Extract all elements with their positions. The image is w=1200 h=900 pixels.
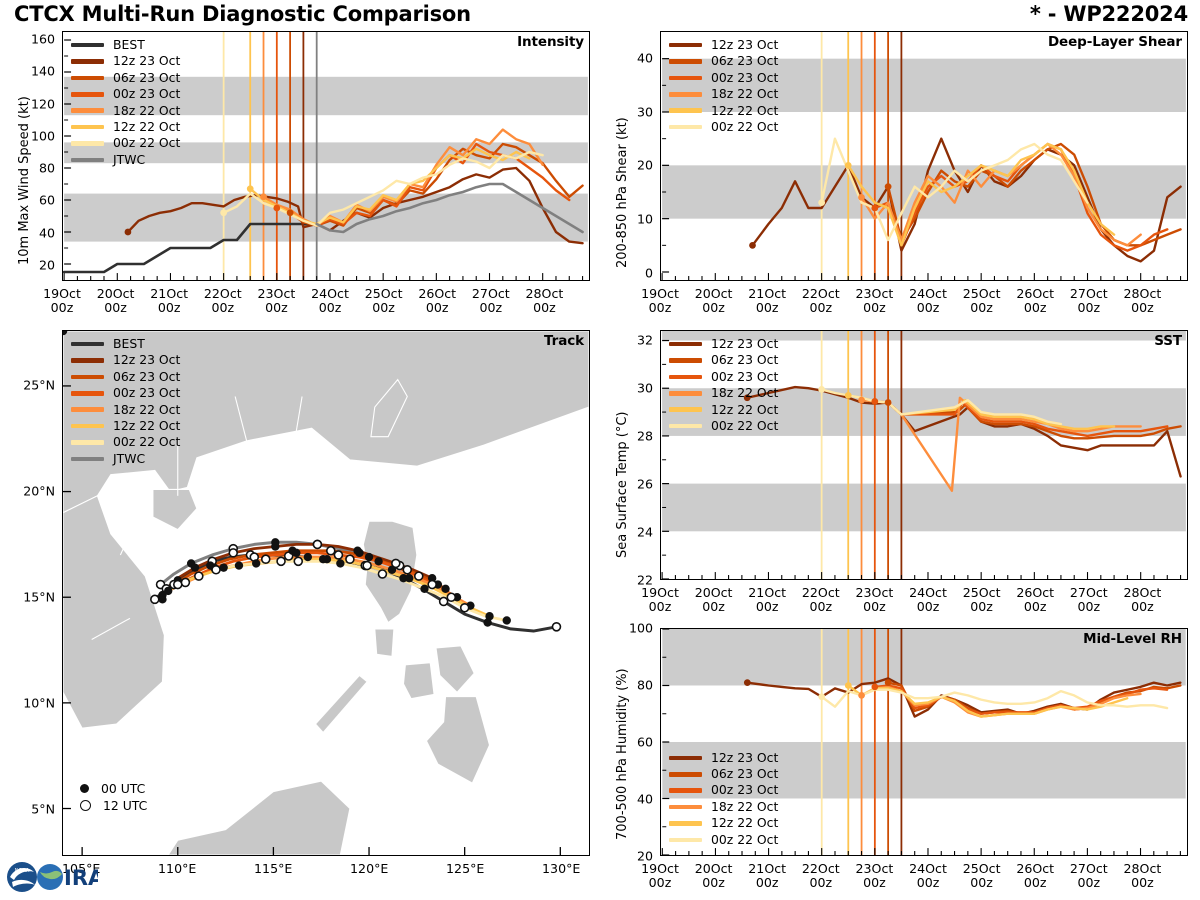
legend-label: 12z 22 Oct — [711, 105, 778, 117]
track-marker-12utc — [346, 555, 354, 563]
legend-label: 00z 23 Oct — [711, 784, 778, 796]
map-lat-label: 25°N — [23, 378, 55, 393]
series-init-marker-run-00z23 — [871, 205, 878, 212]
y-tick-label: 40 — [637, 50, 653, 65]
map-lon-label: 125°E — [446, 862, 484, 876]
x-tick-hour: 00z — [1131, 875, 1154, 890]
x-tick-hour: 00z — [1024, 599, 1047, 614]
legend-item-run-00z23[interactable]: 00z 23 Oct — [669, 782, 778, 798]
legend-label: 00z 22 Oct — [711, 420, 778, 432]
x-tick-hour: 00z — [533, 300, 556, 315]
legend-label: 12z 22 Oct — [113, 420, 180, 432]
panel-track[interactable]: Track BEST12z 23 Oct06z 23 Oct00z 23 Oct… — [62, 330, 590, 856]
map-lat-label: 5°N — [31, 802, 55, 817]
legend-item-run-00z23[interactable]: 00z 23 Oct — [669, 369, 778, 385]
track-marker-12utc — [440, 597, 448, 605]
y-tick-label: 60 — [39, 193, 55, 208]
series-init-marker-run-06z23 — [287, 209, 294, 216]
track-marker-12utc — [262, 555, 270, 563]
legend-item-run-18z22[interactable]: 18z 22 Oct — [669, 799, 778, 815]
track-marker-00utc — [365, 553, 373, 561]
legend-swatch-run-06z23 — [71, 76, 104, 81]
x-tick-label: 26Oct00z — [1016, 287, 1054, 314]
x-tick-label: 20Oct00z — [695, 862, 733, 889]
x-tick-hour: 00z — [756, 875, 779, 890]
legend-label: 12z 23 Oct — [711, 752, 778, 764]
x-tick-label: 27Oct00z — [472, 287, 510, 314]
series-init-marker-run-18z22 — [858, 194, 865, 201]
svg-text:NOAA: NOAA — [15, 868, 30, 874]
y-tick-label: 10 — [637, 212, 653, 227]
x-tick-label: 23Oct00z — [856, 586, 894, 613]
legend-item-run-12z23[interactable]: 12z 23 Oct — [669, 750, 778, 766]
legend-item-jtwc[interactable]: JTWC — [71, 451, 180, 467]
series-init-marker-run-00z22 — [818, 199, 825, 206]
legend-label: 18z 22 Oct — [711, 88, 778, 100]
legend-label: BEST — [113, 338, 145, 350]
series-init-marker-run-00z22 — [818, 386, 825, 393]
x-tick-label: 21Oct00z — [150, 287, 188, 314]
x-tick-label: 21Oct00z — [748, 287, 786, 314]
y-tick-label: 20 — [39, 257, 55, 272]
track-marker-00utc — [292, 549, 300, 557]
marker-legend-label: 00 UTC — [101, 781, 145, 796]
track-marker-12utc — [334, 551, 342, 559]
series-init-marker-run-12z22 — [247, 185, 254, 192]
series-init-marker-run-12z23 — [744, 679, 751, 686]
legend-item-run-12z23[interactable]: 12z 23 Oct — [669, 336, 778, 352]
y-tick-label: 28 — [637, 428, 653, 443]
legend-item-run-00z22[interactable]: 00z 22 Oct — [71, 135, 180, 151]
series-init-marker-run-00z23 — [871, 398, 878, 405]
x-tick-hour: 00z — [917, 875, 940, 890]
legend-item-run-06z23[interactable]: 06z 23 Oct — [71, 369, 180, 385]
x-tick-label: 26Oct00z — [418, 287, 456, 314]
track-marker-00utc — [441, 585, 449, 593]
x-tick-hour: 00z — [51, 300, 74, 315]
legend-swatch-run-12z23 — [71, 358, 104, 363]
marker-legend-item: 00 UTC — [76, 780, 147, 797]
legend-item-run-12z23[interactable]: 12z 23 Oct — [669, 37, 778, 53]
x-tick-hour: 00z — [756, 300, 779, 315]
legend-label: 00z 22 Oct — [113, 137, 180, 149]
legend-swatch-run-18z22 — [669, 391, 702, 396]
legend-swatch-run-12z22 — [669, 821, 702, 826]
x-tick-label: 19Oct00z — [641, 586, 679, 613]
legend-swatch-run-06z23 — [669, 358, 702, 363]
y-tick-label: 20 — [637, 158, 653, 173]
legend-swatch-run-12z23 — [669, 43, 702, 48]
x-tick-label: 28Oct00z — [526, 287, 564, 314]
x-tick-label: 25Oct00z — [365, 287, 403, 314]
legend-label: 12z 22 Oct — [711, 817, 778, 829]
legend-label: 06z 23 Oct — [711, 768, 778, 780]
y-tick-label: 32 — [637, 332, 653, 347]
x-tick-hour: 00z — [970, 599, 993, 614]
panel-sst[interactable]: SST 12z 23 Oct06z 23 Oct00z 23 Oct18z 22… — [660, 330, 1188, 580]
legend-swatch-run-00z23 — [669, 76, 702, 81]
series-init-marker-run-12z22 — [845, 162, 852, 169]
legend-swatch-run-00z22 — [71, 440, 104, 445]
track-marker-legend: 00 UTC12 UTC — [76, 780, 147, 814]
map-lat-label: 20°N — [23, 484, 55, 499]
series-init-marker-run-18z22 — [260, 193, 267, 200]
track-marker-12utc — [195, 572, 203, 580]
legend-item-run-00z22[interactable]: 00z 22 Oct — [669, 832, 778, 848]
legend-label: 12z 23 Oct — [711, 338, 778, 350]
legend-item-jtwc[interactable]: JTWC — [71, 152, 180, 168]
legend-label: 06z 23 Oct — [113, 371, 180, 383]
x-tick-label: 22Oct00z — [802, 862, 840, 889]
x-tick-hour: 00z — [970, 875, 993, 890]
legend-label: 06z 23 Oct — [113, 72, 180, 84]
x-tick-label: 22Oct00z — [802, 586, 840, 613]
series-init-marker-run-12z23 — [749, 242, 756, 249]
track-marker-12utc — [313, 540, 321, 548]
legend-swatch-run-18z22 — [669, 92, 702, 97]
track-marker-00utc — [503, 616, 511, 624]
track-marker-12utc — [403, 566, 411, 574]
x-tick-hour: 00z — [319, 300, 342, 315]
x-tick-label: 27Oct00z — [1070, 287, 1108, 314]
legend-label: 00z 23 Oct — [711, 72, 778, 84]
legend-label: JTWC — [113, 154, 145, 166]
map-lon-label: 115°E — [254, 862, 292, 876]
x-tick-hour: 00z — [1078, 599, 1101, 614]
legend-swatch-run-00z22 — [71, 141, 104, 146]
track-marker-00utc — [304, 553, 312, 561]
legend-item-run-12z22[interactable]: 12z 22 Oct — [669, 815, 778, 831]
x-tick-label: 21Oct00z — [748, 862, 786, 889]
legend-swatch-run-00z22 — [669, 838, 702, 843]
legend-item-run-00z23[interactable]: 00z 23 Oct — [71, 86, 180, 102]
landmass-visayas — [403, 663, 434, 699]
legend-label: JTWC — [113, 453, 145, 465]
x-tick-hour: 00z — [970, 300, 993, 315]
series-init-marker-run-00z23 — [273, 205, 280, 212]
track-marker-00utc — [319, 555, 327, 563]
legend-swatch-run-12z23 — [71, 59, 104, 64]
x-tick-label: 20Oct00z — [695, 586, 733, 613]
legend-swatch-run-06z23 — [669, 59, 702, 64]
legend-label: 00z 22 Oct — [711, 121, 778, 133]
map-lon-label: 120°E — [350, 862, 388, 876]
legend-item-run-18z22[interactable]: 18z 22 Oct — [71, 402, 180, 418]
legend-item-run-18z22[interactable]: 18z 22 Oct — [71, 103, 180, 119]
y-tick-label: 40 — [39, 225, 55, 240]
x-tick-label: 24Oct00z — [909, 862, 947, 889]
track-marker-00utc — [353, 547, 361, 555]
x-tick-label: 19Oct00z — [43, 287, 81, 314]
legend-label: 00z 23 Oct — [711, 371, 778, 383]
y-tick-label: 0 — [645, 265, 653, 280]
legend-item-run-06z23[interactable]: 06z 23 Oct — [669, 53, 778, 69]
sst-panel-title: SST — [1154, 333, 1182, 349]
filled-circle-icon — [80, 784, 89, 793]
sst-legend[interactable]: 12z 23 Oct06z 23 Oct00z 23 Oct18z 22 Oct… — [669, 336, 778, 434]
shear-panel-title: Deep-Layer Shear — [1048, 34, 1182, 50]
x-tick-label: 24Oct00z — [311, 287, 349, 314]
track-marker-12utc — [461, 604, 469, 612]
series-init-marker-run-12z23 — [125, 229, 132, 236]
legend-item-run-00z22[interactable]: 00z 22 Oct — [71, 434, 180, 450]
x-tick-hour: 00z — [649, 875, 672, 890]
shear-legend[interactable]: 12z 23 Oct06z 23 Oct00z 23 Oct18z 22 Oct… — [669, 37, 778, 135]
legend-label: 18z 22 Oct — [711, 801, 778, 813]
legend-swatch-run-12z22 — [71, 125, 104, 130]
legend-item-run-00z22[interactable]: 00z 22 Oct — [669, 119, 778, 135]
x-tick-hour: 00z — [809, 875, 832, 890]
x-tick-label: 25Oct00z — [963, 862, 1001, 889]
track-panel-title: Track — [544, 333, 584, 349]
legend-swatch-run-00z22 — [669, 424, 702, 429]
y-tick-label: 40 — [637, 792, 653, 807]
y-tick-label: 26 — [637, 476, 653, 491]
x-tick-label: 20Oct00z — [695, 287, 733, 314]
y-tick-label: 120 — [31, 96, 55, 111]
x-tick-hour: 00z — [917, 300, 940, 315]
track-marker-00utc — [252, 559, 260, 567]
y-tick-label: 140 — [31, 64, 55, 79]
legend-item-run-06z23[interactable]: 06z 23 Oct — [71, 70, 180, 86]
x-tick-label: 23Oct00z — [856, 862, 894, 889]
x-tick-label: 28Oct00z — [1124, 862, 1162, 889]
legend-item-run-12z22[interactable]: 12z 22 Oct — [71, 119, 180, 135]
track-marker-12utc — [212, 566, 220, 574]
legend-item-run-00z23[interactable]: 00z 23 Oct — [71, 385, 180, 401]
x-tick-label: 20Oct00z — [97, 287, 135, 314]
x-tick-hour: 00z — [863, 875, 886, 890]
x-tick-label: 27Oct00z — [1070, 586, 1108, 613]
panel-rh[interactable]: Mid-Level RH 12z 23 Oct06z 23 Oct00z 23 … — [660, 628, 1188, 856]
x-tick-hour: 00z — [480, 300, 503, 315]
track-marker-12utc — [378, 570, 386, 578]
legend-swatch-run-00z23 — [71, 391, 104, 396]
legend-swatch-run-12z23 — [669, 342, 702, 347]
y-tick-label: 30 — [637, 380, 653, 395]
legend-swatch-run-12z22 — [71, 424, 104, 429]
storm-id-label: * - WP222024 — [1030, 2, 1188, 26]
x-tick-hour: 00z — [1078, 875, 1101, 890]
map-lon-label: 110°E — [158, 862, 196, 876]
legend-label: 12z 23 Oct — [113, 354, 180, 366]
track-legend[interactable]: BEST12z 23 Oct06z 23 Oct00z 23 Oct18z 22… — [71, 336, 180, 467]
legend-swatch-run-06z23 — [669, 772, 702, 777]
rh-y-axis-title: 700-500 hPa Humidity (%) — [615, 668, 630, 840]
track-marker-12utc — [363, 562, 371, 570]
x-tick-label: 21Oct00z — [748, 586, 786, 613]
x-tick-hour: 00z — [426, 300, 449, 315]
panel-intensity[interactable]: Intensity BEST12z 23 Oct06z 23 Oct00z 23… — [62, 31, 590, 281]
y-tick-label: 30 — [637, 104, 653, 119]
legend-swatch-run-12z23 — [669, 756, 702, 761]
rh-legend[interactable]: 12z 23 Oct06z 23 Oct00z 23 Oct18z 22 Oct… — [669, 750, 778, 848]
legend-swatch-run-00z23 — [669, 375, 702, 380]
legend-label: 12z 23 Oct — [113, 55, 180, 67]
x-tick-label: 24Oct00z — [909, 287, 947, 314]
legend-swatch-run-12z22 — [669, 407, 702, 412]
track-marker-00utc — [485, 612, 493, 620]
legend-item-run-06z23[interactable]: 06z 23 Oct — [669, 352, 778, 368]
track-marker-12utc — [415, 572, 423, 580]
track-marker-00utc — [271, 542, 279, 550]
x-tick-hour: 00z — [809, 300, 832, 315]
noaa-cira-logo: NOAA IRA — [6, 858, 98, 896]
series-init-marker-run-06z23 — [885, 679, 892, 686]
map-lat-label: 10°N — [23, 696, 55, 711]
x-tick-hour: 00z — [702, 300, 725, 315]
x-tick-hour: 00z — [756, 599, 779, 614]
intensity-y-axis-title: 10m Max Wind Speed (kt) — [17, 96, 32, 265]
marker-legend-item: 12 UTC — [76, 797, 147, 814]
x-tick-hour: 00z — [917, 599, 940, 614]
legend-item-run-12z23[interactable]: 12z 23 Oct — [71, 53, 180, 69]
x-tick-label: 19Oct00z — [641, 287, 679, 314]
track-marker-12utc — [174, 581, 182, 589]
y-tick-label: 100 — [629, 621, 653, 636]
landmass-mindoro — [375, 629, 394, 656]
legend-label: 18z 22 Oct — [113, 404, 180, 416]
map-lat-label: 15°N — [23, 590, 55, 605]
track-marker-00utc — [191, 563, 199, 571]
series-init-marker-run-18z22 — [858, 692, 865, 699]
x-tick-hour: 00z — [372, 300, 395, 315]
track-marker-12utc — [181, 578, 189, 586]
y-tick-label: 80 — [637, 678, 653, 693]
intensity-panel-title: Intensity — [517, 34, 584, 50]
legend-label: 12z 23 Oct — [711, 39, 778, 51]
series-init-marker-run-00z22 — [220, 209, 227, 216]
legend-item-run-12z22[interactable]: 12z 22 Oct — [71, 418, 180, 434]
legend-label: 06z 23 Oct — [711, 55, 778, 67]
x-tick-hour: 00z — [1131, 300, 1154, 315]
legend-label: BEST — [113, 39, 145, 51]
legend-swatch-run-00z22 — [669, 125, 702, 130]
x-tick-label: 22Oct00z — [802, 287, 840, 314]
legend-item-run-18z22[interactable]: 18z 22 Oct — [669, 86, 778, 102]
legend-swatch-best — [71, 342, 104, 347]
open-circle-icon — [80, 800, 91, 811]
x-tick-hour: 00z — [211, 300, 234, 315]
x-tick-hour: 00z — [702, 875, 725, 890]
legend-label: 00z 23 Oct — [113, 387, 180, 399]
legend-label: 00z 23 Oct — [113, 88, 180, 100]
shading-band — [662, 484, 1186, 532]
sst-y-axis-title: Sea Surface Temp (°C) — [615, 411, 630, 558]
track-marker-00utc — [235, 561, 243, 569]
legend-swatch-run-00z23 — [669, 788, 702, 793]
track-marker-00utc — [420, 585, 428, 593]
y-tick-label: 80 — [39, 161, 55, 176]
legend-item-run-00z22[interactable]: 00z 22 Oct — [669, 418, 778, 434]
legend-swatch-run-06z23 — [71, 375, 104, 380]
x-tick-hour: 00z — [1024, 875, 1047, 890]
x-tick-hour: 00z — [649, 599, 672, 614]
x-tick-label: 25Oct00z — [963, 287, 1001, 314]
legend-label: 18z 22 Oct — [113, 105, 180, 117]
track-marker-00utc — [164, 587, 172, 595]
legend-swatch-run-00z23 — [71, 92, 104, 97]
x-tick-hour: 00z — [158, 300, 181, 315]
shear-y-axis-title: 200-850 hPa Shear (kt) — [615, 117, 630, 268]
legend-item-best[interactable]: BEST — [71, 336, 180, 352]
rh-panel-title: Mid-Level RH — [1083, 631, 1182, 647]
legend-swatch-jtwc — [71, 158, 104, 163]
x-tick-hour: 00z — [863, 599, 886, 614]
legend-item-run-06z23[interactable]: 06z 23 Oct — [669, 766, 778, 782]
y-tick-label: 160 — [31, 32, 55, 47]
x-tick-hour: 00z — [1078, 300, 1101, 315]
track-marker-00utc — [219, 563, 227, 571]
x-tick-label: 19Oct00z — [641, 862, 679, 889]
x-tick-hour: 00z — [1131, 599, 1154, 614]
legend-swatch-run-18z22 — [669, 805, 702, 810]
legend-swatch-best — [71, 43, 104, 48]
y-tick-label: 24 — [637, 524, 653, 539]
series-init-marker-run-06z23 — [885, 399, 892, 406]
track-marker-00utc — [374, 557, 382, 565]
x-tick-hour: 00z — [809, 599, 832, 614]
legend-item-run-12z23[interactable]: 12z 23 Oct — [71, 352, 180, 368]
track-marker-12utc — [447, 593, 455, 601]
x-tick-label: 28Oct00z — [1124, 287, 1162, 314]
x-tick-label: 23Oct00z — [258, 287, 296, 314]
x-tick-label: 23Oct00z — [856, 287, 894, 314]
x-tick-label: 28Oct00z — [1124, 586, 1162, 613]
series-init-marker-run-12z22 — [845, 682, 852, 689]
track-marker-12utc — [151, 595, 159, 603]
legend-label: 12z 22 Oct — [113, 121, 180, 133]
legend-item-run-12z22[interactable]: 12z 22 Oct — [669, 103, 778, 119]
legend-label: 06z 23 Oct — [711, 354, 778, 366]
intensity-legend[interactable]: BEST12z 23 Oct06z 23 Oct00z 23 Oct18z 22… — [71, 37, 180, 168]
track-marker-12utc — [294, 557, 302, 565]
y-tick-label: 60 — [637, 735, 653, 750]
x-tick-label: 24Oct00z — [909, 586, 947, 613]
x-tick-label: 26Oct00z — [1016, 862, 1054, 889]
track-marker-12utc — [229, 549, 237, 557]
legend-swatch-run-12z22 — [669, 108, 702, 113]
legend-label: 12z 22 Oct — [711, 404, 778, 416]
legend-item-run-00z23[interactable]: 00z 23 Oct — [669, 70, 778, 86]
legend-item-run-12z22[interactable]: 12z 22 Oct — [669, 402, 778, 418]
y-tick-label: 100 — [31, 128, 55, 143]
series-init-marker-run-12z22 — [845, 392, 852, 399]
series-init-marker-run-06z23 — [885, 183, 892, 190]
track-marker-00utc — [405, 574, 413, 582]
legend-item-best[interactable]: BEST — [71, 37, 180, 53]
series-init-marker-run-00z22 — [818, 693, 825, 700]
x-tick-hour: 00z — [863, 300, 886, 315]
x-tick-label: 26Oct00z — [1016, 586, 1054, 613]
x-tick-hour: 00z — [702, 599, 725, 614]
legend-label: 18z 22 Oct — [711, 387, 778, 399]
x-tick-label: 27Oct00z — [1070, 862, 1108, 889]
track-marker-12utc — [428, 581, 436, 589]
legend-label: 00z 22 Oct — [113, 436, 180, 448]
panel-shear[interactable]: Deep-Layer Shear 12z 23 Oct06z 23 Oct00z… — [660, 31, 1188, 281]
track-marker-00utc — [336, 559, 344, 567]
legend-item-run-18z22[interactable]: 18z 22 Oct — [669, 385, 778, 401]
legend-swatch-run-18z22 — [71, 407, 104, 412]
series-init-marker-run-18z22 — [858, 397, 865, 404]
marker-legend-label: 12 UTC — [103, 798, 147, 813]
legend-swatch-jtwc — [71, 457, 104, 462]
x-tick-label: 25Oct00z — [963, 586, 1001, 613]
legend-label: 00z 22 Oct — [711, 834, 778, 846]
track-marker-00utc — [388, 566, 396, 574]
legend-swatch-run-18z22 — [71, 108, 104, 113]
